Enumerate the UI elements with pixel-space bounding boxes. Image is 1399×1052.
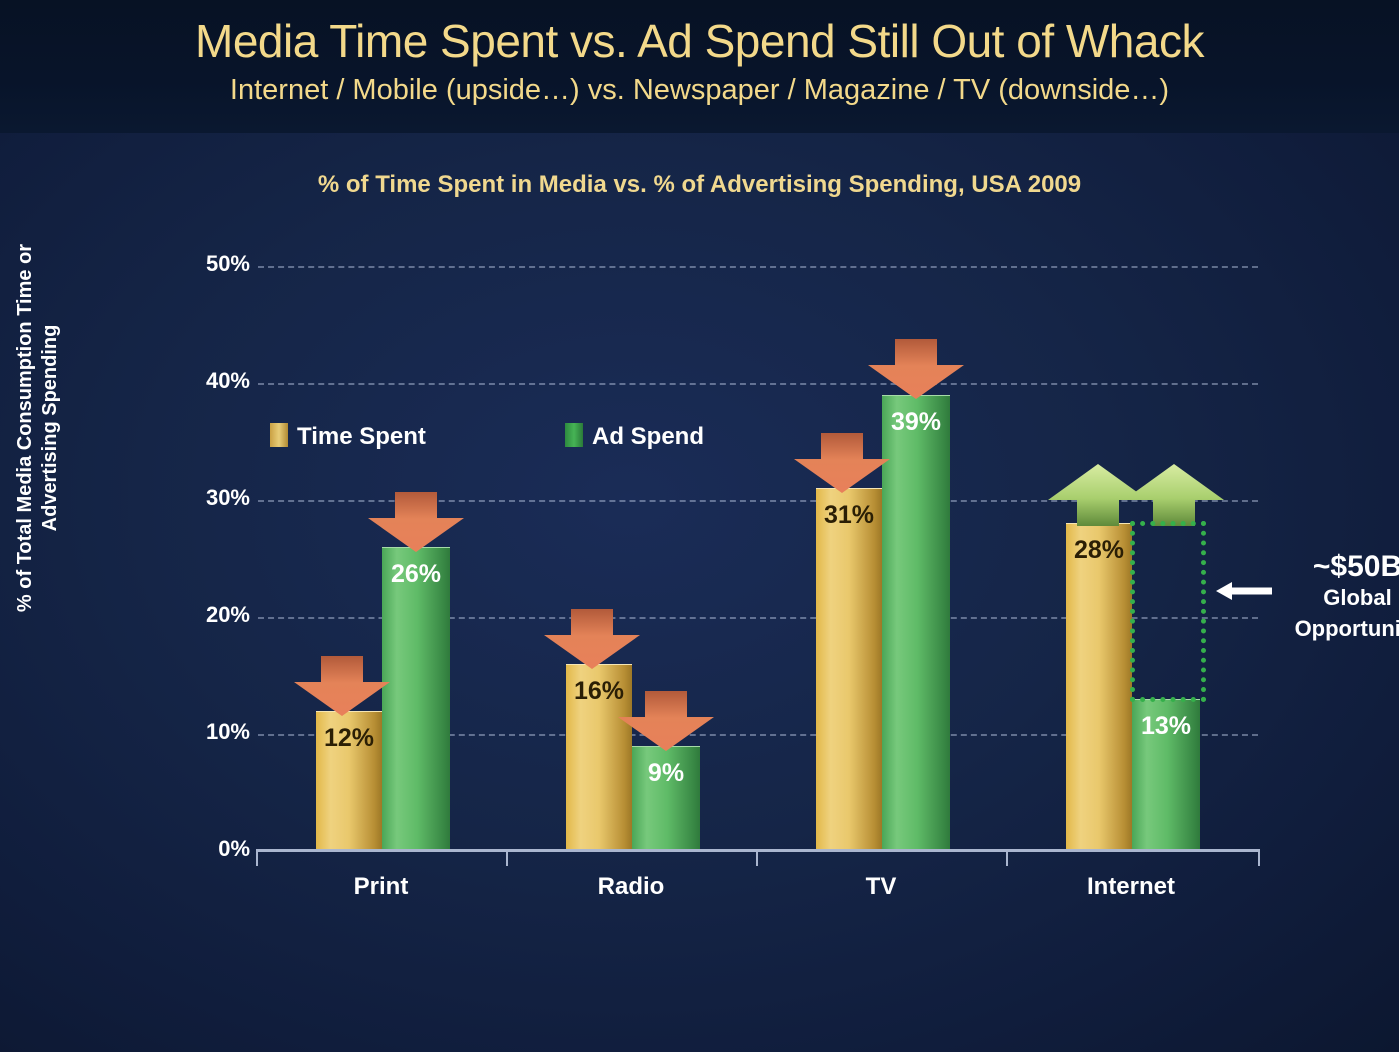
bar-label-internet-time-spent: 28% xyxy=(1066,536,1132,565)
y-tick-30: 30% xyxy=(180,485,250,511)
slide-body: % of Time Spent in Media vs. % of Advert… xyxy=(0,133,1399,1052)
y-tick-10: 10% xyxy=(180,719,250,745)
x-axis-label-internet: Internet xyxy=(1011,873,1251,901)
bar-label-print-ad-spend: 26% xyxy=(382,560,450,589)
slide-header: Media Time Spent vs. Ad Spend Still Out … xyxy=(0,0,1399,133)
legend-label-time-spent: Time Spent xyxy=(297,423,426,451)
opportunity-caption-line1: Global xyxy=(1270,582,1399,613)
bar-label-radio-ad-spend: 9% xyxy=(632,759,700,788)
y-tick-40: 40% xyxy=(180,368,250,394)
y-tick-0: 0% xyxy=(180,836,250,862)
opportunity-gap-box xyxy=(1130,521,1206,702)
x-axis-label-radio: Radio xyxy=(511,873,751,901)
y-axis-title: % of Total Media Consumption Time or Adv… xyxy=(13,208,63,648)
x-axis-tick-2 xyxy=(756,852,758,866)
down-arrow-print-ad-spend xyxy=(368,492,464,557)
bar-tv-time-spent[interactable]: 31% xyxy=(816,488,882,851)
down-arrow-tv-time-spent xyxy=(794,433,890,498)
bar-print-ad-spend[interactable]: 26% xyxy=(382,547,450,851)
legend-swatch-ad-spend-icon xyxy=(565,423,583,447)
down-arrow-radio-ad-spend xyxy=(618,691,714,756)
down-arrow-tv-ad-spend xyxy=(868,339,964,404)
legend-item-ad-spend[interactable]: Ad Spend xyxy=(565,423,704,453)
gridline-40 xyxy=(258,383,1258,385)
x-axis-tick-3 xyxy=(1006,852,1008,866)
down-arrow-print-time-spent xyxy=(294,656,390,721)
bar-internet-time-spent[interactable]: 28% xyxy=(1066,523,1132,851)
bar-print-time-spent[interactable]: 12% xyxy=(316,711,382,851)
page-subtitle: Internet / Mobile (upside…) vs. Newspape… xyxy=(0,74,1399,107)
down-arrow-radio-time-spent xyxy=(544,609,640,674)
chart-title: % of Time Spent in Media vs. % of Advert… xyxy=(0,171,1399,199)
gridline-50 xyxy=(258,266,1258,268)
x-axis-label-tv: TV xyxy=(761,873,1001,901)
bar-label-tv-ad-spend: 39% xyxy=(882,408,950,437)
page-title: Media Time Spent vs. Ad Spend Still Out … xyxy=(0,14,1399,68)
legend-swatch-time-spent-icon xyxy=(270,423,288,447)
y-tick-50: 50% xyxy=(180,251,250,277)
opportunity-arrow-icon xyxy=(1216,579,1272,608)
bar-tv-ad-spend[interactable]: 39% xyxy=(882,395,950,851)
x-axis-endcap-left xyxy=(256,852,258,866)
bar-label-tv-time-spent: 31% xyxy=(816,501,882,530)
bar-radio-ad-spend[interactable]: 9% xyxy=(632,746,700,851)
x-axis-label-print: Print xyxy=(261,873,501,901)
legend-item-time-spent[interactable]: Time Spent xyxy=(270,423,426,453)
x-axis-line xyxy=(256,849,1260,852)
legend-label-ad-spend: Ad Spend xyxy=(592,423,704,451)
bar-label-internet-ad-spend: 13% xyxy=(1132,712,1200,741)
opportunity-callout: ~$50B Global Opportunity xyxy=(1270,551,1399,644)
y-tick-20: 20% xyxy=(180,602,250,628)
bar-internet-ad-spend[interactable]: 13% xyxy=(1132,699,1200,851)
x-axis-tick-1 xyxy=(506,852,508,866)
opportunity-caption-line2: Opportunity xyxy=(1270,613,1399,644)
bar-label-print-time-spent: 12% xyxy=(316,724,382,753)
x-axis-endcap-right xyxy=(1258,852,1260,866)
plot-area: 12% 26% 16% 9% xyxy=(258,266,1258,851)
opportunity-amount: ~$50B xyxy=(1270,551,1399,582)
